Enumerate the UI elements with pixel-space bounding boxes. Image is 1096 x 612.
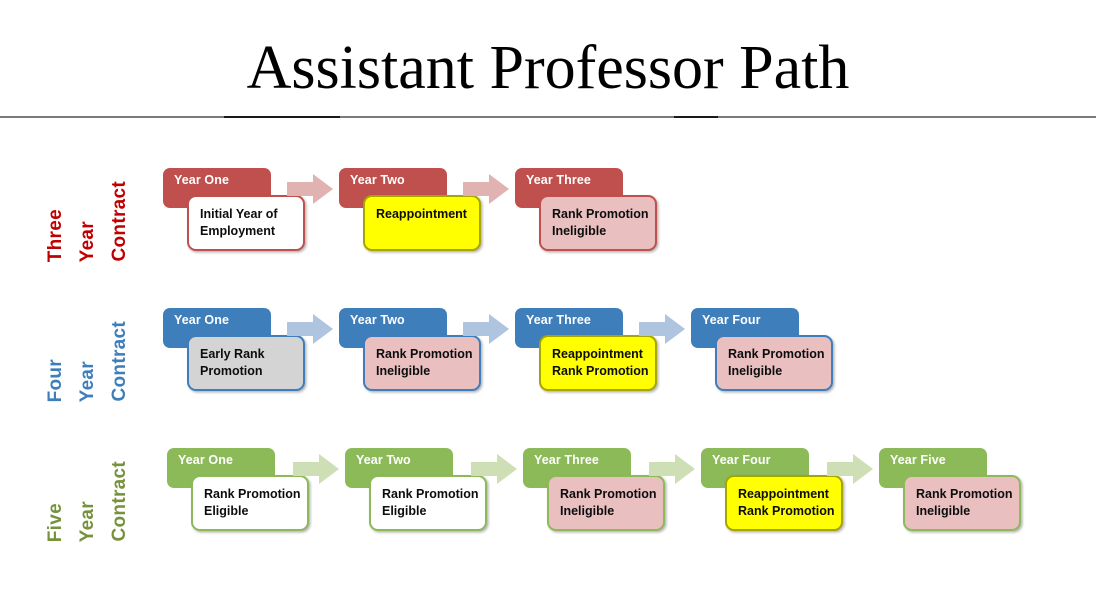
year-card-body: Rank PromotionIneligible bbox=[547, 475, 665, 531]
year-card-body-line: Eligible bbox=[382, 503, 479, 520]
row-label-word: Year bbox=[78, 501, 97, 542]
year-card-body-line: Rank Promotion bbox=[382, 486, 479, 503]
year-card-body: ReappointmentRank Promotion bbox=[725, 475, 843, 531]
year-card-body-line: Reappointment bbox=[738, 486, 835, 503]
flow-arrow-icon bbox=[463, 314, 509, 344]
year-card-header-label: Year Three bbox=[526, 313, 591, 327]
title-divider bbox=[0, 116, 1096, 118]
year-card-header-label: Year Three bbox=[534, 453, 599, 467]
flow-arrow-icon bbox=[287, 314, 333, 344]
year-card-body: Rank PromotionEligible bbox=[369, 475, 487, 531]
year-card[interactable]: Year FourReappointmentRank Promotion bbox=[701, 448, 843, 531]
year-card-body-line: Ineligible bbox=[376, 363, 473, 380]
year-card-header-label: Year One bbox=[178, 453, 233, 467]
row-label-word: Year bbox=[78, 221, 97, 262]
year-card-body-line: Rank Promotion bbox=[204, 486, 301, 503]
year-card[interactable]: Year ThreeReappointmentRank Promotion bbox=[515, 308, 657, 391]
year-card[interactable]: Year ThreeRank PromotionIneligible bbox=[523, 448, 665, 531]
year-card[interactable]: Year OneInitial Year ofEmployment bbox=[163, 168, 305, 251]
year-card-body-text: Rank PromotionIneligible bbox=[552, 206, 649, 239]
year-card-body-text: ReappointmentRank Promotion bbox=[738, 486, 835, 519]
year-card-body: Rank PromotionEligible bbox=[191, 475, 309, 531]
year-card-body-text: Early RankPromotion bbox=[200, 346, 297, 379]
row-label-1: ThreeYearContract bbox=[38, 162, 150, 262]
year-card-header-label: Year Four bbox=[712, 453, 771, 467]
row-label-word: Contract bbox=[110, 181, 129, 262]
year-card-header-label: Year Three bbox=[526, 173, 591, 187]
year-card-body-line: Initial Year of bbox=[200, 206, 297, 223]
page-title: Assistant Professor Path bbox=[0, 36, 1096, 100]
title-banner: Assistant Professor Path bbox=[0, 0, 1096, 118]
year-card-header-label: Year Two bbox=[350, 173, 405, 187]
year-card-header-label: Year Four bbox=[702, 313, 761, 327]
year-card-header-label: Year Five bbox=[890, 453, 946, 467]
year-card-body-line: Early Rank bbox=[200, 346, 297, 363]
row-label-word: Contract bbox=[110, 321, 129, 402]
year-card-body: Rank PromotionIneligible bbox=[539, 195, 657, 251]
year-card-body-line: Rank Promotion bbox=[552, 206, 649, 223]
year-card-header-label: Year One bbox=[174, 313, 229, 327]
year-card-header-label: Year Two bbox=[356, 453, 411, 467]
flow-arrow-icon bbox=[827, 454, 873, 484]
year-card-body-text: Rank PromotionIneligible bbox=[376, 346, 473, 379]
row-label-word: Four bbox=[46, 359, 65, 402]
year-card-body-line: Rank Promotion bbox=[552, 363, 649, 380]
year-card-body-line: Promotion bbox=[200, 363, 297, 380]
year-card[interactable]: Year TwoRank PromotionEligible bbox=[345, 448, 487, 531]
year-card-body-line: Eligible bbox=[204, 503, 301, 520]
year-card-body-line: Ineligible bbox=[916, 503, 1013, 520]
year-card-body: Rank PromotionIneligible bbox=[715, 335, 833, 391]
year-card[interactable]: Year TwoReappointment bbox=[339, 168, 481, 251]
year-card-body-line: Reappointment bbox=[552, 346, 649, 363]
year-card-body: Rank PromotionIneligible bbox=[903, 475, 1021, 531]
year-card-body-text: Rank PromotionIneligible bbox=[560, 486, 657, 519]
year-card-body-line: Rank Promotion bbox=[916, 486, 1013, 503]
year-sequence-2: Year OneEarly RankPromotionYear TwoRank … bbox=[163, 308, 1096, 418]
contract-row-2: FourYearContractYear OneEarly RankPromot… bbox=[0, 308, 1096, 418]
year-card-body-line: Reappointment bbox=[376, 206, 473, 223]
row-label-2: FourYearContract bbox=[38, 302, 150, 402]
contract-row-1: ThreeYearContractYear OneInitial Year of… bbox=[0, 168, 1096, 278]
year-sequence-3: Year OneRank PromotionEligibleYear TwoRa… bbox=[167, 448, 1096, 558]
flow-arrow-icon bbox=[287, 174, 333, 204]
year-card-body-line: Ineligible bbox=[728, 363, 825, 380]
year-card-body-text: ReappointmentRank Promotion bbox=[552, 346, 649, 379]
year-card-body-line: Employment bbox=[200, 223, 297, 240]
year-card-header-label: Year Two bbox=[350, 313, 405, 327]
year-card[interactable]: Year FourRank PromotionIneligible bbox=[691, 308, 833, 391]
year-card-body-text: Reappointment bbox=[376, 206, 473, 223]
year-card[interactable]: Year OneRank PromotionEligible bbox=[167, 448, 309, 531]
year-card-body-text: Rank PromotionEligible bbox=[382, 486, 479, 519]
year-card-body-line: Ineligible bbox=[552, 223, 649, 240]
year-card-body-line: Ineligible bbox=[560, 503, 657, 520]
year-card-body-text: Rank PromotionIneligible bbox=[916, 486, 1013, 519]
year-card-body-text: Initial Year ofEmployment bbox=[200, 206, 297, 239]
flow-arrow-icon bbox=[471, 454, 517, 484]
year-card-body-text: Rank PromotionIneligible bbox=[728, 346, 825, 379]
year-card[interactable]: Year OneEarly RankPromotion bbox=[163, 308, 305, 391]
flow-arrow-icon bbox=[649, 454, 695, 484]
row-label-word: Contract bbox=[110, 461, 129, 542]
year-card-body-line: Rank Promotion bbox=[376, 346, 473, 363]
year-sequence-1: Year OneInitial Year ofEmploymentYear Tw… bbox=[163, 168, 1096, 278]
flow-arrow-icon bbox=[463, 174, 509, 204]
year-card-header-label: Year One bbox=[174, 173, 229, 187]
year-card-body-line: Rank Promotion bbox=[728, 346, 825, 363]
row-label-word: Five bbox=[46, 503, 65, 542]
year-card-body-text: Rank PromotionEligible bbox=[204, 486, 301, 519]
flow-arrow-icon bbox=[639, 314, 685, 344]
year-card-body-line: Rank Promotion bbox=[738, 503, 835, 520]
flow-arrow-icon bbox=[293, 454, 339, 484]
row-label-word: Year bbox=[78, 361, 97, 402]
year-card[interactable]: Year TwoRank PromotionIneligible bbox=[339, 308, 481, 391]
row-label-3: FiveYearContract bbox=[38, 442, 150, 542]
year-card[interactable]: Year FiveRank PromotionIneligible bbox=[879, 448, 1021, 531]
row-label-word: Three bbox=[46, 209, 65, 262]
year-card[interactable]: Year ThreeRank PromotionIneligible bbox=[515, 168, 657, 251]
contract-row-3: FiveYearContractYear OneRank PromotionEl… bbox=[0, 448, 1096, 558]
year-card-body-line: Rank Promotion bbox=[560, 486, 657, 503]
